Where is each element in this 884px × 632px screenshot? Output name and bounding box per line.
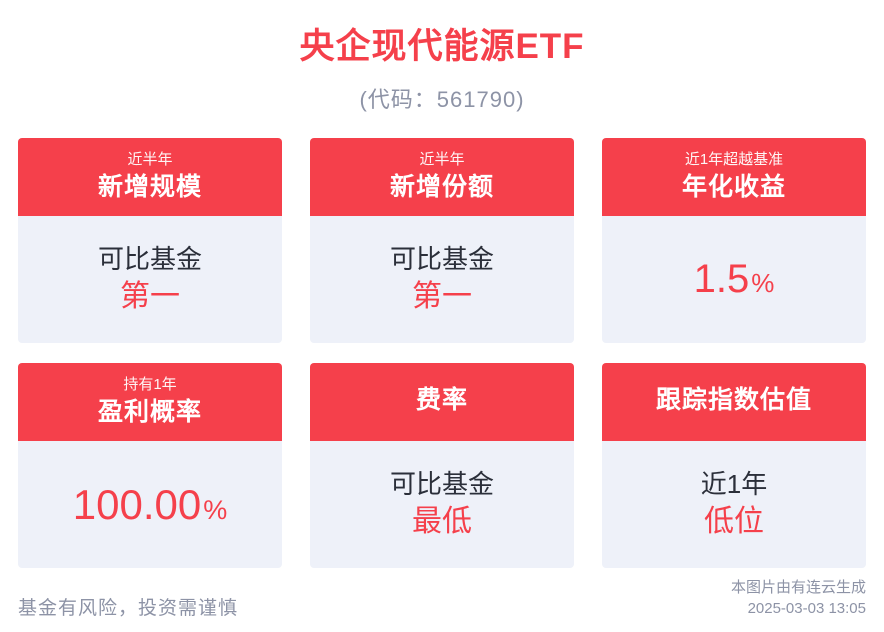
card-annualized-excess-return-unit: %: [751, 268, 774, 299]
generation-source: 本图片由有连云生成: [731, 577, 866, 599]
card-annualized-excess-return-value-row: 1.5 %: [694, 257, 775, 302]
card-profit-probability-header: 持有1年 盈利概率: [18, 363, 282, 441]
card-new-scale-body: 可比基金 第一: [18, 216, 282, 343]
card-new-shares-body: 可比基金 第一: [310, 216, 574, 343]
card-fee-rate-rank: 最低: [412, 502, 472, 543]
card-new-scale-period: 近半年: [22, 149, 278, 172]
card-new-scale-compare-label: 可比基金: [98, 242, 202, 277]
card-index-valuation: 跟踪指数估值 近1年 低位: [602, 363, 866, 568]
card-profit-probability-period: 持有1年: [22, 374, 278, 397]
card-annualized-excess-return-value: 1.5: [694, 257, 750, 302]
card-annualized-excess-return-period: 近1年超越基准: [606, 149, 862, 172]
card-new-scale-rank: 第一: [120, 277, 180, 318]
card-new-scale: 近半年 新增规模 可比基金 第一: [18, 138, 282, 343]
card-fee-rate-header: 费率: [310, 363, 574, 441]
card-annualized-excess-return-title: 年化收益: [606, 172, 862, 203]
card-new-shares-header: 近半年 新增份额: [310, 138, 574, 216]
footer: 基金有风险，投资需谨慎 本图片由有连云生成 2025-03-03 13:05: [18, 577, 866, 621]
fund-code-subtitle: (代码：561790): [18, 68, 866, 114]
card-new-shares-title: 新增份额: [314, 172, 570, 203]
card-profit-probability: 持有1年 盈利概率 100.00 %: [18, 363, 282, 568]
poster-page: 央企现代能源ETF (代码：561790) 近半年 新增规模 可比基金 第一 近…: [0, 0, 884, 632]
card-profit-probability-title: 盈利概率: [22, 397, 278, 428]
card-fee-rate-compare-label: 可比基金: [390, 467, 494, 502]
card-profit-probability-unit: %: [203, 495, 227, 526]
card-new-scale-header: 近半年 新增规模: [18, 138, 282, 216]
card-profit-probability-value: 100.00: [73, 481, 201, 529]
metric-card-grid: 近半年 新增规模 可比基金 第一 近半年 新增份额 可比基金 第一 近1年超越基…: [18, 138, 866, 568]
card-profit-probability-body: 100.00 %: [18, 441, 282, 568]
card-index-valuation-body: 近1年 低位: [602, 441, 866, 568]
card-annualized-excess-return: 近1年超越基准 年化收益 1.5 %: [602, 138, 866, 343]
card-fee-rate-body: 可比基金 最低: [310, 441, 574, 568]
generation-timestamp: 2025-03-03 13:05: [731, 598, 866, 620]
card-annualized-excess-return-header: 近1年超越基准 年化收益: [602, 138, 866, 216]
page-title: 央企现代能源ETF: [18, 0, 866, 68]
risk-disclaimer: 基金有风险，投资需谨慎: [18, 593, 238, 620]
card-fee-rate: 费率 可比基金 最低: [310, 363, 574, 568]
card-index-valuation-title: 跟踪指数估值: [606, 385, 862, 416]
generation-credit: 本图片由有连云生成 2025-03-03 13:05: [731, 577, 866, 621]
card-new-shares-rank: 第一: [412, 277, 472, 318]
card-fee-rate-title: 费率: [314, 385, 570, 416]
card-new-shares-compare-label: 可比基金: [390, 242, 494, 277]
card-new-shares-period: 近半年: [314, 149, 570, 172]
card-annualized-excess-return-body: 1.5 %: [602, 216, 866, 343]
card-new-shares: 近半年 新增份额 可比基金 第一: [310, 138, 574, 343]
card-index-valuation-level: 低位: [704, 502, 764, 543]
card-profit-probability-value-row: 100.00 %: [73, 481, 227, 529]
card-index-valuation-header: 跟踪指数估值: [602, 363, 866, 441]
card-index-valuation-period: 近1年: [701, 467, 767, 502]
card-new-scale-title: 新增规模: [22, 172, 278, 203]
